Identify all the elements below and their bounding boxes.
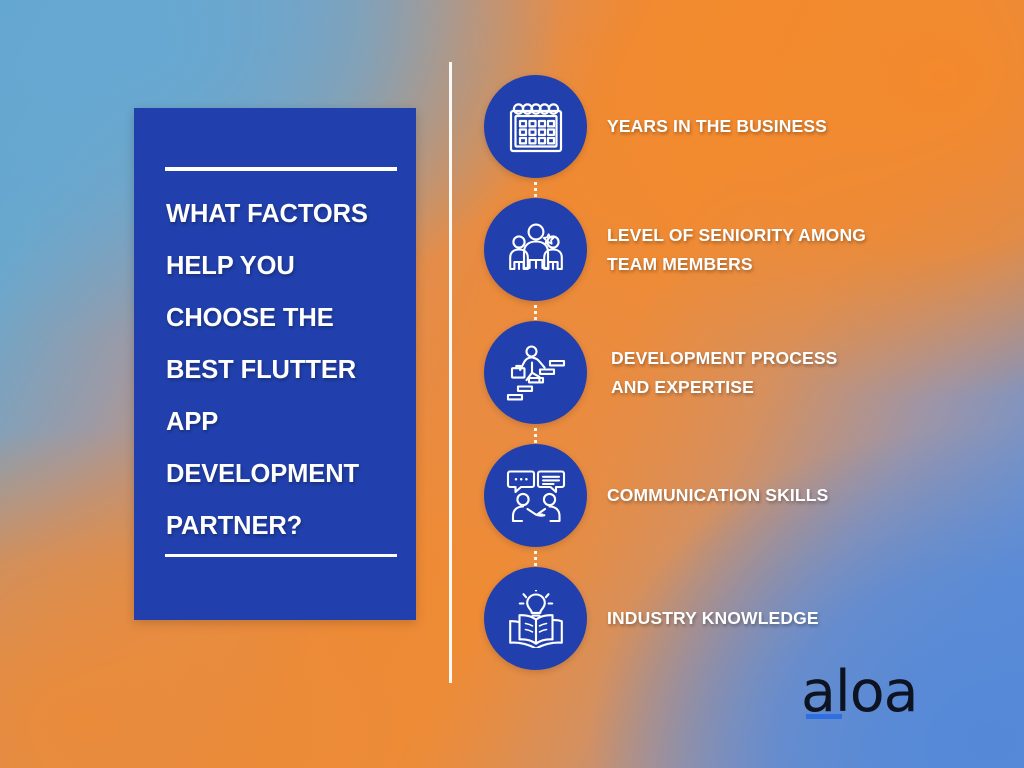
calendar-icon [507, 99, 565, 155]
book-lightbulb-icon [506, 590, 566, 648]
factor-item-3[interactable]: DEVELOPMENT PROCESS AND EXPERTISE [484, 321, 1004, 424]
factor-label-1: YEARS IN THE BUSINESS [607, 112, 827, 141]
page-title: WHAT FACTORS HELP YOU CHOOSE THE BEST FL… [166, 188, 402, 552]
factor-icon-circle-5 [484, 567, 587, 670]
aloa-logo[interactable]: aloa [801, 664, 941, 730]
logo-underline [806, 714, 842, 719]
factor-label-4: COMMUNICATION SKILLS [607, 481, 828, 510]
factor-icon-circle-3 [484, 321, 587, 424]
factor-item-5[interactable]: INDUSTRY KNOWLEDGE [484, 567, 1004, 670]
factor-icon-circle-4 [484, 444, 587, 547]
title-rule-bottom [165, 554, 397, 557]
factor-icon-circle-2 [484, 198, 587, 301]
factor-label-5: INDUSTRY KNOWLEDGE [607, 604, 819, 633]
factor-item-1[interactable]: YEARS IN THE BUSINESS [484, 75, 1004, 178]
team-seniority-icon [506, 222, 566, 278]
logo-wordmark: aloa [801, 664, 941, 720]
title-card: WHAT FACTORS HELP YOU CHOOSE THE BEST FL… [134, 108, 416, 620]
factor-icon-circle-1 [484, 75, 587, 178]
infographic-canvas: WHAT FACTORS HELP YOU CHOOSE THE BEST FL… [0, 0, 1024, 768]
factor-item-4[interactable]: COMMUNICATION SKILLS [484, 444, 1004, 547]
conversation-icon [506, 468, 566, 524]
title-rule-top [165, 167, 397, 171]
factor-label-3: DEVELOPMENT PROCESS AND EXPERTISE [611, 344, 838, 402]
factor-label-2: LEVEL OF SENIORITY AMONG TEAM MEMBERS [607, 221, 866, 279]
vertical-divider [449, 62, 452, 683]
career-stairs-icon [506, 344, 566, 402]
factor-item-2[interactable]: LEVEL OF SENIORITY AMONG TEAM MEMBERS [484, 198, 1004, 301]
